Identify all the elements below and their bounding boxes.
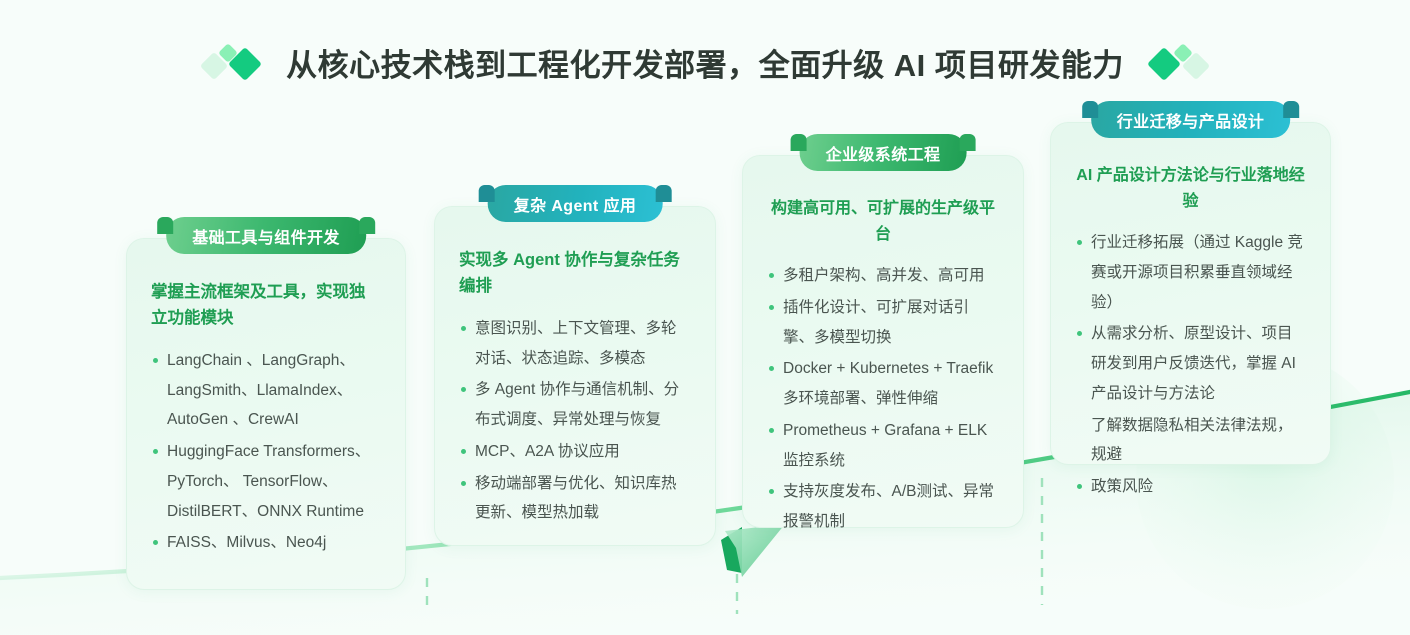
card-body: 实现多 Agent 协作与复杂任务编排 意图识别、上下文管理、多轮对话、状态追踪… — [435, 207, 715, 552]
list-item: 支持灰度发布、A/B测试、异常报警机制 — [767, 477, 999, 537]
card-industry-transfer[interactable]: 行业迁移与产品设计 AI 产品设计方法论与行业落地经验 行业迁移拓展（通过 Ka… — [1050, 122, 1331, 465]
card-body: 构建高可用、可扩展的生产级平台 多租户架构、高并发、高可用插件化设计、可扩展对话… — [743, 156, 1023, 561]
list-item: LangChain 、LangGraph、LangSmith、LlamaInde… — [151, 346, 381, 435]
card-heading: 构建高可用、可扩展的生产级平台 — [767, 196, 999, 247]
card-body: AI 产品设计方法论与行业落地经验 行业迁移拓展（通过 Kaggle 竞赛或开源… — [1051, 123, 1330, 526]
card-enterprise-systems[interactable]: 企业级系统工程 构建高可用、可扩展的生产级平台 多租户架构、高并发、高可用插件化… — [742, 155, 1024, 528]
card-complex-agent[interactable]: 复杂 Agent 应用 实现多 Agent 协作与复杂任务编排 意图识别、上下文… — [434, 206, 716, 546]
list-item: FAISS、Milvus、Neo4j — [151, 528, 381, 558]
card-bullet-list: 行业迁移拓展（通过 Kaggle 竞赛或开源项目积累垂直领域经验）从需求分析、原… — [1075, 228, 1306, 502]
card-heading: 掌握主流框架及工具，实现独立功能模块 — [151, 279, 381, 332]
list-item: HuggingFace Transformers、PyTorch、 Tensor… — [151, 437, 381, 526]
list-item: 意图识别、上下文管理、多轮对话、状态追踪、多模态 — [459, 314, 691, 374]
list-item: 从需求分析、原型设计、项目研发到用户反馈迭代，掌握 AI 产品设计与方法论 — [1075, 319, 1306, 408]
list-item: 多租户架构、高并发、高可用 — [767, 261, 999, 291]
list-item: 了解数据隐私相关法律法规，规避 — [1075, 411, 1306, 471]
diamond-cluster-right-icon — [1150, 42, 1206, 82]
card-badge: 基础工具与组件开发 — [166, 217, 366, 254]
card-bullet-list: 意图识别、上下文管理、多轮对话、状态追踪、多模态多 Agent 协作与通信机制、… — [459, 314, 691, 528]
list-item: 行业迁移拓展（通过 Kaggle 竞赛或开源项目积累垂直领域经验） — [1075, 228, 1306, 317]
list-item: 插件化设计、可扩展对话引擎、多模型切换 — [767, 293, 999, 353]
list-item: Prometheus + Grafana + ELK 监控系统 — [767, 416, 999, 476]
card-badge: 行业迁移与产品设计 — [1091, 101, 1291, 138]
card-heading: 实现多 Agent 协作与复杂任务编排 — [459, 247, 691, 300]
card-bullet-list: 多租户架构、高并发、高可用插件化设计、可扩展对话引擎、多模型切换Docker +… — [767, 261, 999, 537]
list-item: 多 Agent 协作与通信机制、分布式调度、异常处理与恢复 — [459, 375, 691, 435]
card-heading: AI 产品设计方法论与行业落地经验 — [1075, 163, 1306, 214]
list-item: Docker + Kubernetes + Traefik 多环境部署、弹性伸缩 — [767, 354, 999, 414]
card-body: 掌握主流框架及工具，实现独立功能模块 LangChain 、LangGraph、… — [127, 239, 405, 582]
card-badge: 复杂 Agent 应用 — [488, 185, 663, 222]
card-foundation-tools[interactable]: 基础工具与组件开发 掌握主流框架及工具，实现独立功能模块 LangChain 、… — [126, 238, 406, 590]
page-header: 从核心技术栈到工程化开发部署，全面升级 AI 项目研发能力 — [0, 34, 1410, 90]
card-bullet-list: LangChain 、LangGraph、LangSmith、LlamaInde… — [151, 346, 381, 558]
page-title: 从核心技术栈到工程化开发部署，全面升级 AI 项目研发能力 — [286, 40, 1124, 85]
list-item: 移动端部署与优化、知识库热更新、模型热加载 — [459, 469, 691, 529]
list-item: 政策风险 — [1075, 472, 1306, 502]
list-item: MCP、A2A 协议应用 — [459, 437, 691, 467]
diamond-cluster-left-icon — [204, 42, 260, 82]
card-badge: 企业级系统工程 — [800, 134, 967, 171]
